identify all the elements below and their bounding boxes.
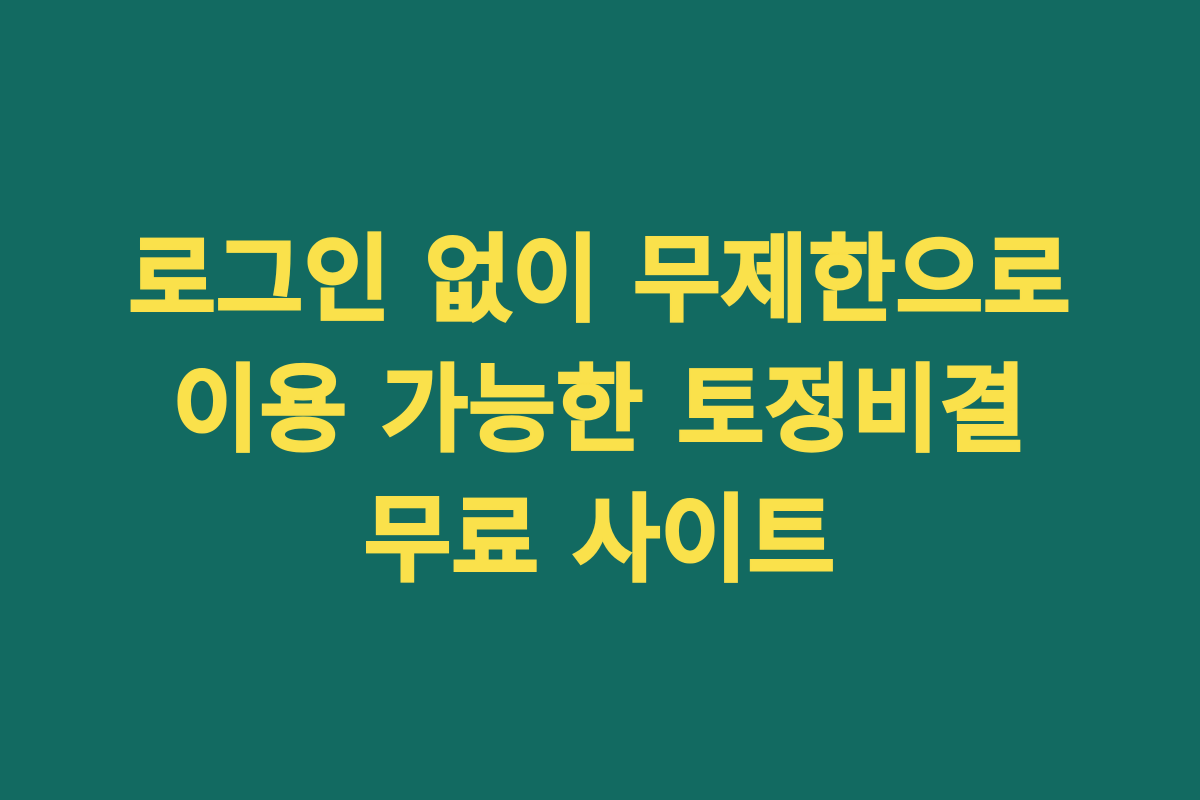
promo-banner: 로그인 없이 무제한으로 이용 가능한 토정비결 무료 사이트 [0,0,1200,800]
headline-text: 로그인 없이 무제한으로 이용 가능한 토정비결 무료 사이트 [72,216,1128,606]
headline-block: 로그인 없이 무제한으로 이용 가능한 토정비결 무료 사이트 [0,216,1200,606]
